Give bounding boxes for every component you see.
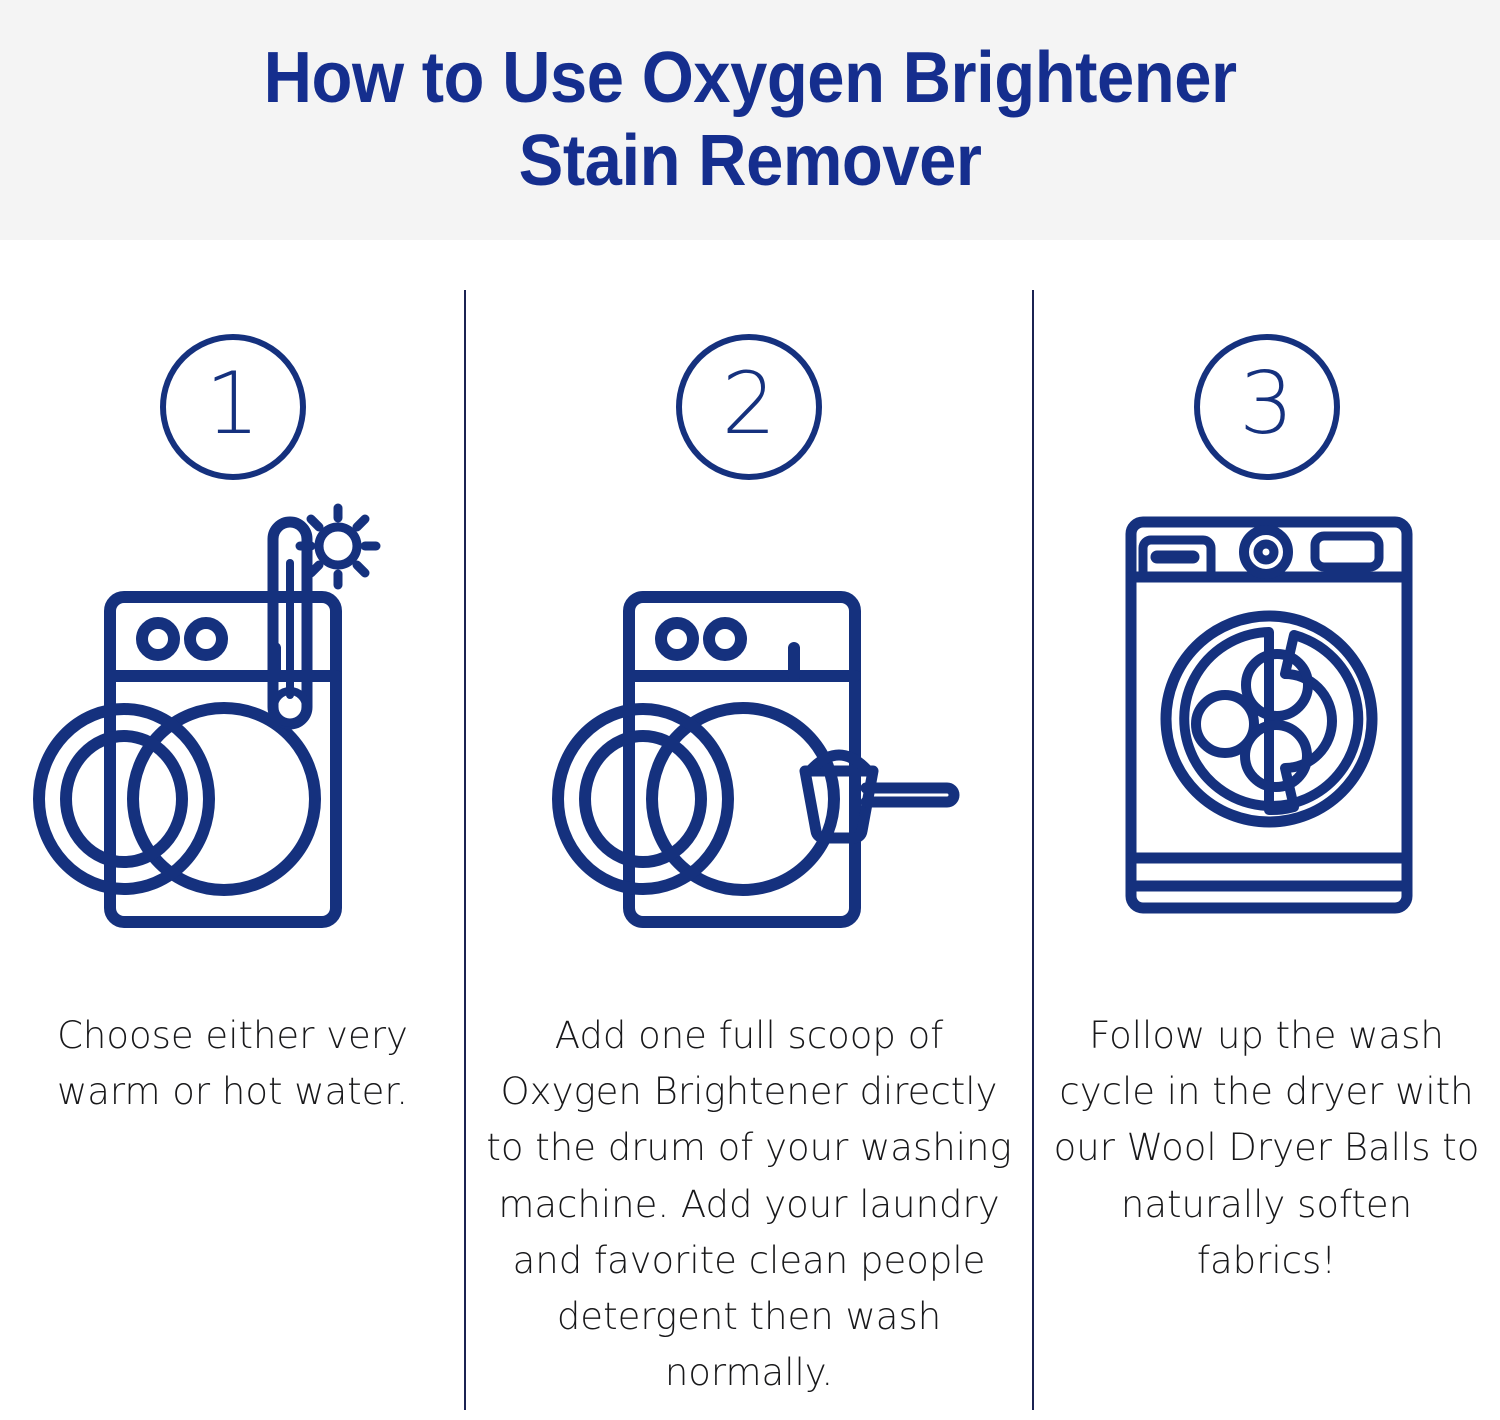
step-1-caption: Choose either very warm or hot water. [48, 1008, 418, 1120]
washer-door [558, 709, 728, 889]
step-1: 1 [0, 240, 465, 1420]
step-3-badge-wrap: 3 [1194, 332, 1340, 482]
page-title-line-2: Stain Remover [519, 121, 982, 201]
step-3-caption: Follow up the wash cycle in the dryer wi… [1047, 1008, 1487, 1289]
washing-machine-scoop-icon [525, 500, 985, 930]
page-title: How to Use Oxygen Brightener Stain Remov… [264, 37, 1237, 203]
step-1-number: 1 [205, 361, 260, 447]
step-2-caption: Add one full scoop of Oxygen Brightener … [484, 1008, 1014, 1402]
dryer-control-panel [1143, 530, 1379, 577]
step-2-badge-wrap: 2 [676, 332, 822, 482]
page-header: How to Use Oxygen Brightener Stain Remov… [0, 0, 1500, 240]
page-title-line-1: How to Use Oxygen Brightener [264, 38, 1237, 118]
step-2: 2 [465, 240, 1033, 1420]
washer-door [39, 709, 209, 889]
dryer-with-dryer-balls-icon [1119, 500, 1419, 930]
washing-machine-temperature-icon [17, 500, 417, 930]
step-1-icon-wrap [0, 500, 465, 930]
step-3-icon-wrap [1033, 500, 1500, 930]
infographic-page: How to Use Oxygen Brightener Stain Remov… [0, 0, 1500, 1420]
step-3-badge: 3 [1194, 334, 1340, 480]
step-1-badge-wrap: 1 [160, 332, 306, 482]
step-2-badge: 2 [676, 334, 822, 480]
step-2-icon-wrap [465, 500, 1033, 930]
steps-container: 1 [0, 240, 1500, 1420]
step-3-number: 3 [1239, 361, 1294, 447]
washer-drum [133, 708, 315, 890]
step-2-number: 2 [722, 361, 777, 447]
thermometer-icon [273, 522, 307, 724]
washer-knobs [142, 623, 222, 655]
step-1-badge: 1 [160, 334, 306, 480]
step-3: 3 [1033, 240, 1500, 1420]
washer-knobs [661, 623, 741, 655]
